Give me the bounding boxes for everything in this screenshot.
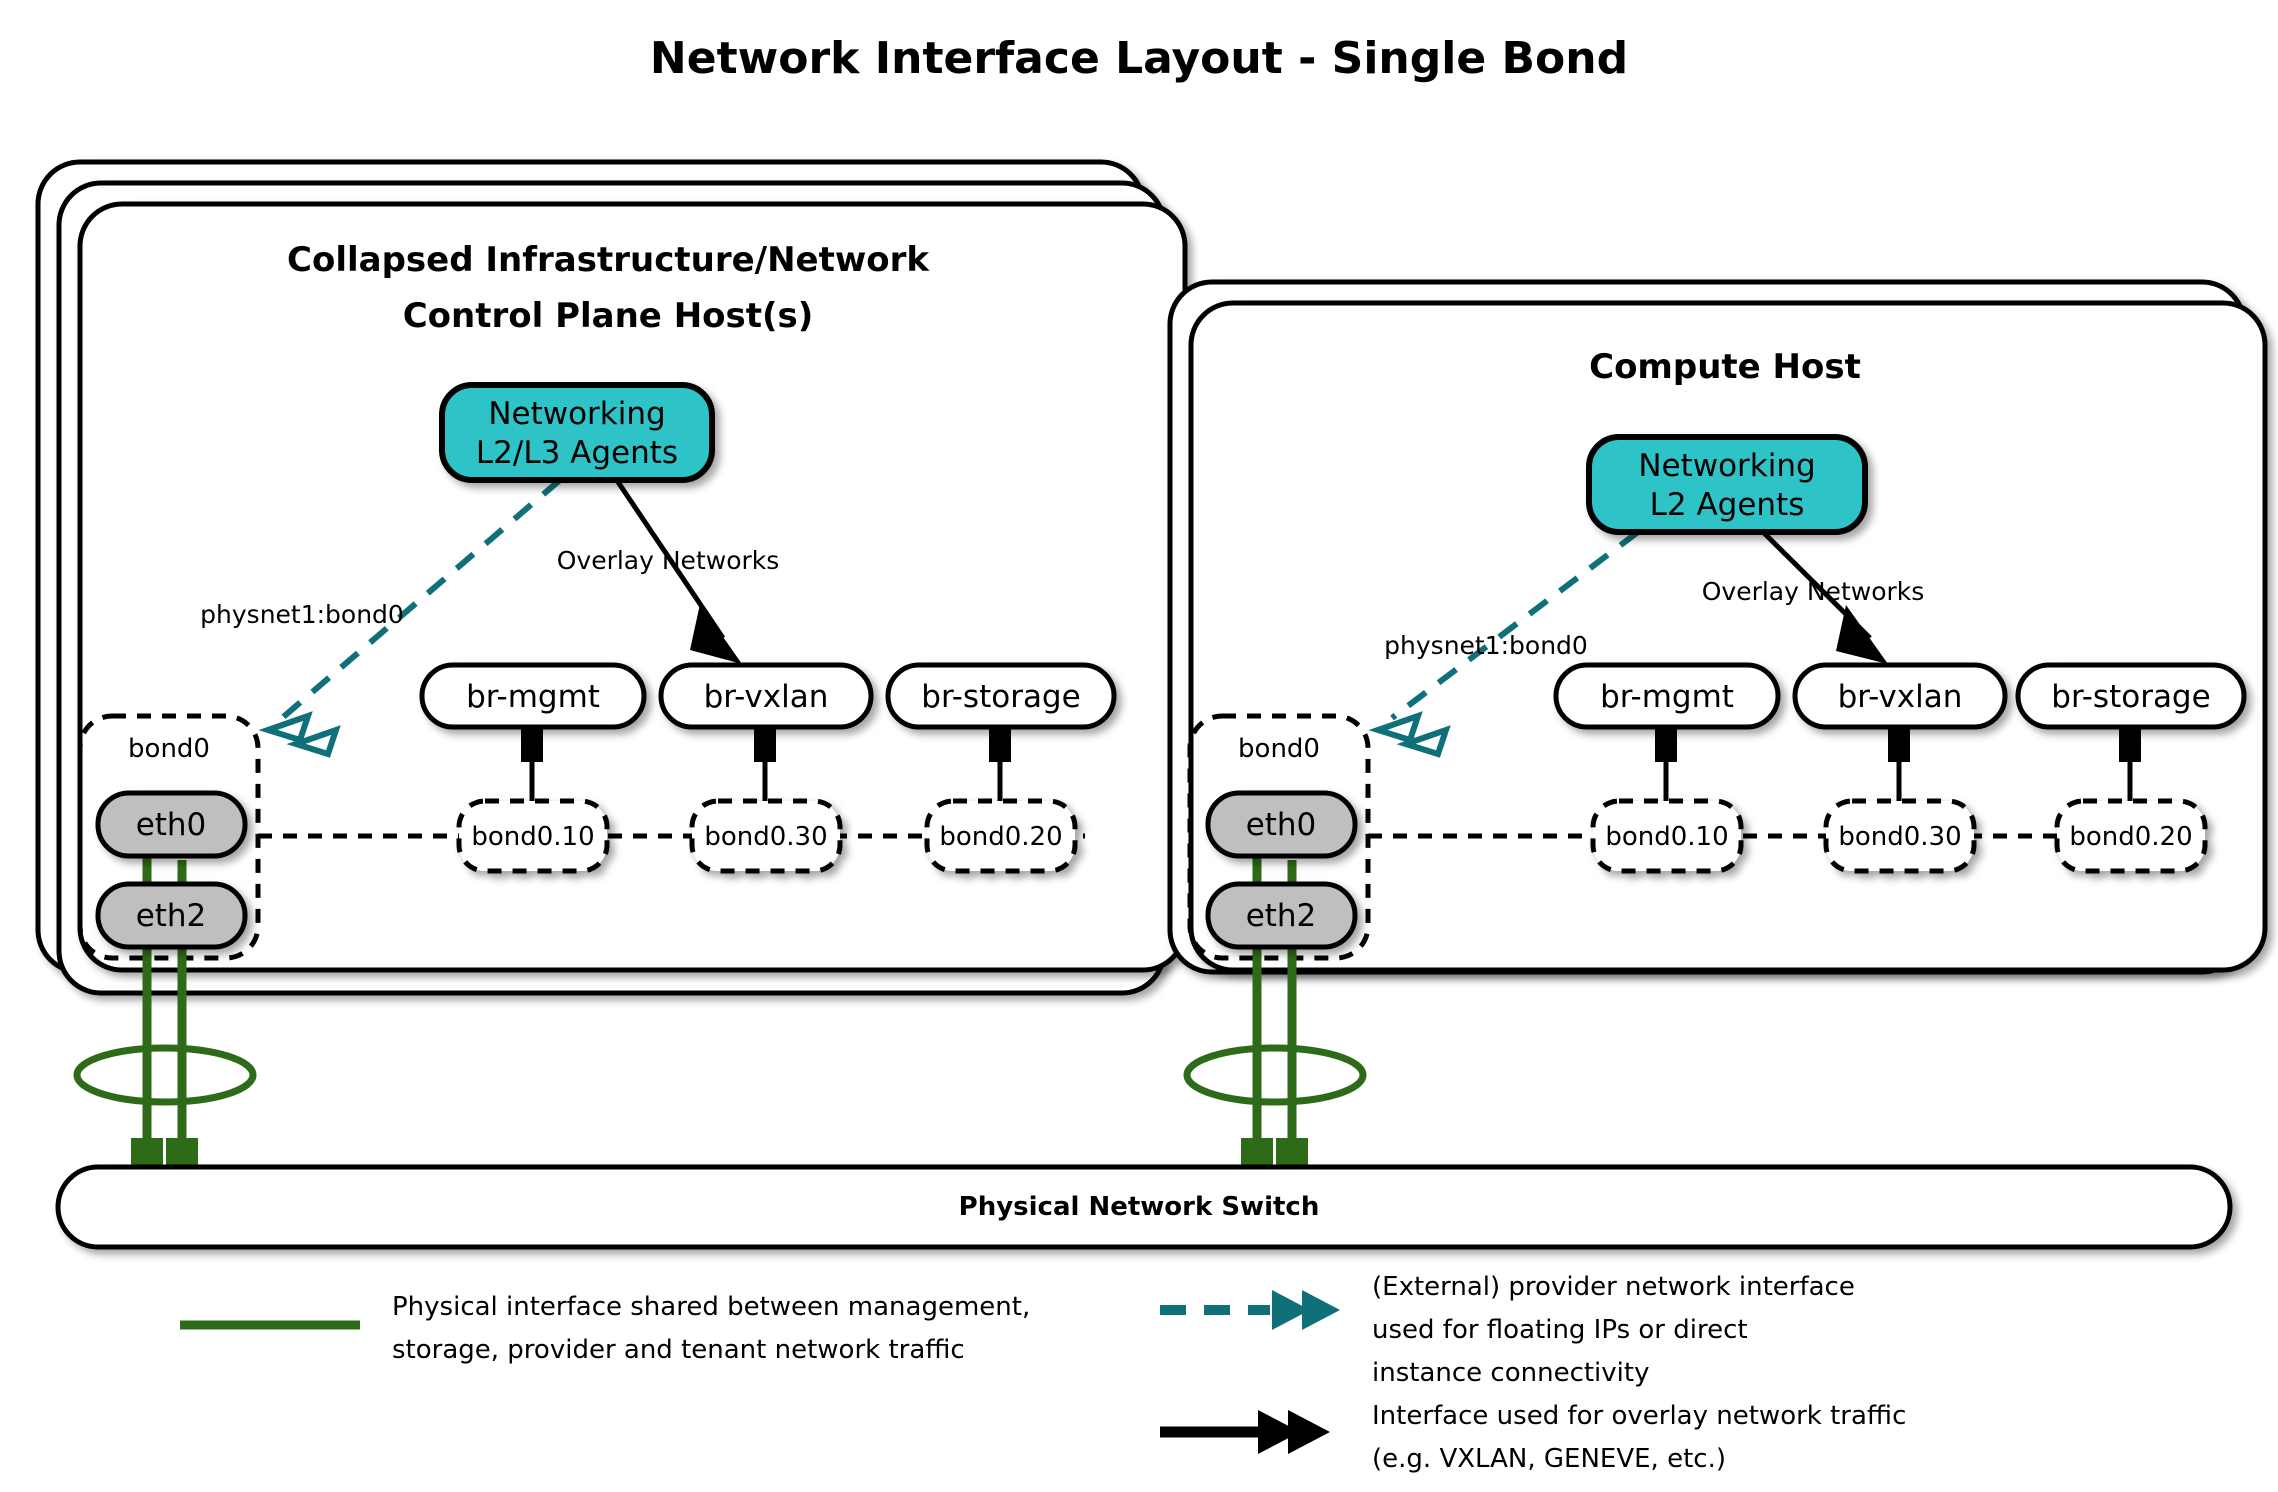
br-mgmt-label: br-mgmt — [1600, 679, 1734, 715]
legend-overlay-line1: Interface used for overlay network traff… — [1372, 1401, 1906, 1431]
networking-agents-node[interactable]: Networking L2 Agents — [1589, 437, 1865, 532]
legend-item-physical: Physical interface shared between manage… — [180, 1292, 1030, 1365]
physical-network-switch[interactable]: Physical Network Switch — [58, 1167, 2230, 1247]
black-double-arrowhead-icon — [1258, 1410, 1330, 1454]
legend-provider-line3: instance connectivity — [1372, 1358, 1649, 1388]
page-title: Network Interface Layout - Single Bond — [650, 33, 1628, 84]
legend-physical-line2: storage, provider and tenant network tra… — [392, 1335, 965, 1365]
eth-interface-node[interactable]: eth0 — [1208, 793, 1355, 856]
bond0-10-label: bond0.10 — [471, 822, 594, 852]
host-title-line1: Compute Host — [1589, 347, 1861, 387]
control-plane-host-group[interactable]: Collapsed Infrastructure/Network Control… — [38, 162, 1185, 1175]
legend: Physical interface shared between manage… — [180, 1272, 1906, 1474]
diagram-canvas: Network Interface Layout - Single Bond C… — [0, 0, 2278, 1492]
network-diagram-svg: Network Interface Layout - Single Bond C… — [0, 0, 2278, 1492]
teal-double-arrowhead-icon — [1272, 1290, 1340, 1330]
overlay-edge-label: Overlay Networks — [557, 546, 780, 575]
networking-agents-label-line1: Networking — [1638, 448, 1815, 484]
bond0-label: bond0 — [128, 734, 210, 764]
bond0-label: bond0 — [1238, 734, 1320, 764]
eth-interface-node[interactable]: eth0 — [98, 793, 245, 856]
br-vxlan-label: br-vxlan — [704, 679, 829, 715]
host-title-line2: Control Plane Host(s) — [403, 296, 814, 336]
eth0-label: eth0 — [136, 807, 207, 843]
eth-interface-node[interactable]: eth2 — [98, 884, 245, 947]
bridge-port-icon — [989, 724, 1011, 762]
bond0-20-label: bond0.20 — [2069, 822, 2192, 852]
networking-agents-label-line1: Networking — [488, 396, 665, 432]
compute-host-group[interactable]: Compute Host physnet1:bond0 Overlay Netw… — [1170, 282, 2265, 1175]
provider-edge-label: physnet1:bond0 — [200, 600, 404, 629]
br-vxlan-label: br-vxlan — [1838, 679, 1963, 715]
bridge-port-icon — [521, 724, 543, 762]
bridge-port-icon — [754, 724, 776, 762]
legend-item-overlay: Interface used for overlay network traff… — [1160, 1401, 1906, 1474]
bond0-30-label: bond0.30 — [704, 822, 827, 852]
legend-physical-line1: Physical interface shared between manage… — [392, 1292, 1030, 1322]
bond0-10-label: bond0.10 — [1605, 822, 1728, 852]
eth-interface-node[interactable]: eth2 — [1208, 884, 1355, 947]
bond-group-ellipse-icon — [77, 1048, 253, 1102]
bond0-20-label: bond0.20 — [939, 822, 1062, 852]
networking-agents-label-line2: L2/L3 Agents — [476, 435, 678, 471]
legend-provider-line1: (External) provider network interface — [1372, 1272, 1855, 1302]
provider-edge-label: physnet1:bond0 — [1384, 631, 1588, 660]
networking-agents-node[interactable]: Networking L2/L3 Agents — [442, 385, 712, 480]
legend-item-provider: (External) provider network interface us… — [1160, 1272, 1855, 1388]
eth2-label: eth2 — [1246, 898, 1317, 934]
eth2-label: eth2 — [136, 898, 207, 934]
bridge-port-icon — [1655, 724, 1677, 762]
bridge-port-icon — [2119, 724, 2141, 762]
br-mgmt-label: br-mgmt — [466, 679, 600, 715]
host-title-line1: Collapsed Infrastructure/Network — [287, 240, 930, 280]
legend-overlay-line2: (e.g. VXLAN, GENEVE, etc.) — [1372, 1444, 1726, 1474]
legend-provider-line2: used for floating IPs or direct — [1372, 1315, 1748, 1345]
br-storage-label: br-storage — [2051, 679, 2210, 715]
eth0-label: eth0 — [1246, 807, 1317, 843]
bond-group-ellipse-icon — [1187, 1048, 1363, 1102]
networking-agents-label-line2: L2 Agents — [1650, 487, 1805, 523]
overlay-edge-label: Overlay Networks — [1702, 577, 1925, 606]
switch-label: Physical Network Switch — [959, 1192, 1320, 1222]
bridge-port-icon — [1888, 724, 1910, 762]
br-storage-label: br-storage — [921, 679, 1080, 715]
bond0-30-label: bond0.30 — [1838, 822, 1961, 852]
